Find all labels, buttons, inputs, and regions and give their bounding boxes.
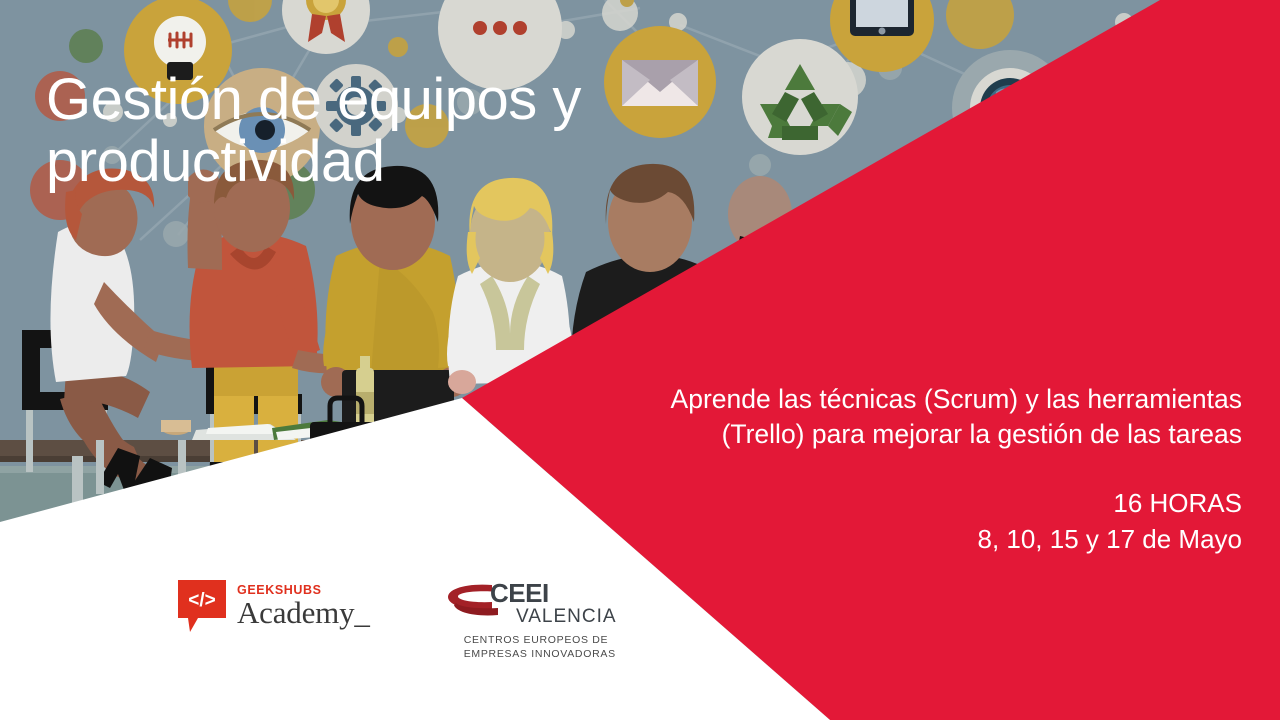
course-duration: 16 HORAS xyxy=(742,486,1242,522)
course-promo-slide: Gestión de equipos y productividad Apren… xyxy=(0,0,1280,720)
course-subtitle: Aprende las técnicas (Scrum) y las herra… xyxy=(532,382,1242,453)
ceei-mark: CEEI VALENCIA xyxy=(446,578,622,630)
geekshubs-wordmark-main: Academy_ xyxy=(237,597,370,628)
svg-text:</>: </> xyxy=(188,590,215,611)
course-dates: 8, 10, 15 y 17 de Mayo xyxy=(742,522,1242,558)
logo-row: </> GEEKSHUBS Academy_ CEEI VALENCIA xyxy=(176,578,622,662)
recycle-icon-node xyxy=(742,39,858,155)
ceei-tagline-line-1: CENTROS EUROPEOS DE xyxy=(464,634,609,646)
ceei-tagline-line-2: EMPRESAS INNOVADORAS xyxy=(464,648,616,660)
ceei-valencia-logo[interactable]: CEEI VALENCIA CENTROS EUROPEOS DE EMPRES… xyxy=(446,578,622,662)
course-details: 16 HORAS 8, 10, 15 y 17 de Mayo xyxy=(742,486,1242,558)
camera-lens-icon-node xyxy=(952,50,1068,166)
code-brackets-speech-bubble-icon: </> xyxy=(176,578,228,634)
svg-text:CEEI: CEEI xyxy=(490,578,549,608)
svg-text:VALENCIA: VALENCIA xyxy=(516,606,617,627)
page-title: Gestión de equipos y productividad xyxy=(46,69,746,194)
geekshubs-academy-logo[interactable]: </> GEEKSHUBS Academy_ xyxy=(176,578,370,634)
